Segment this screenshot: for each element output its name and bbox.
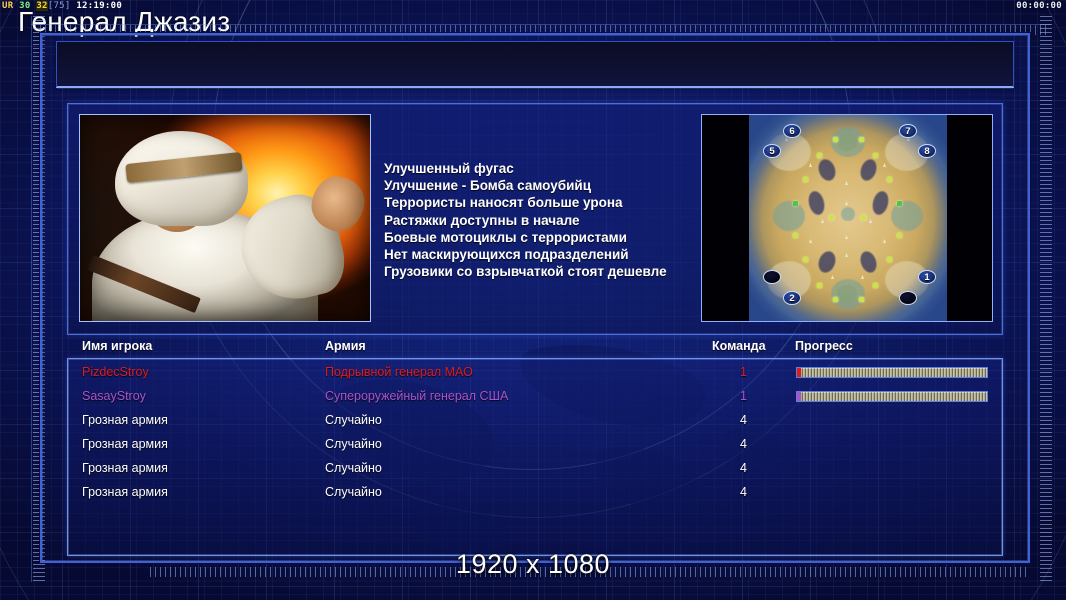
general-bonus-list: Улучшенный фугас Улучшение - Бомба самоу… <box>384 160 714 280</box>
osd-tag: UR <box>2 1 13 11</box>
player-table-header: Имя игрока Армия Команда Прогресс <box>67 339 1003 358</box>
cell-player-name: SasayStroy <box>82 389 146 403</box>
minimap-start-position-8[interactable]: 8 <box>918 144 936 158</box>
minimap-start-position-6[interactable]: 6 <box>783 124 801 138</box>
osd-num1: 30 <box>19 1 30 11</box>
bonus-line-2: Улучшение - Бомба самоубийц <box>384 177 714 194</box>
minimap-start-position-empty-7[interactable] <box>899 291 917 305</box>
bonus-line-4: Растяжки доступны в начале <box>384 212 714 229</box>
title-bar-glow <box>57 86 1013 89</box>
progress-bar-fill <box>797 392 987 401</box>
column-header-progress: Прогресс <box>795 339 853 353</box>
portrait-vignette <box>80 115 370 321</box>
cell-army: Случайно <box>325 413 382 427</box>
cell-army: Подрывной генерал МАО <box>325 365 473 379</box>
cell-army: Случайно <box>325 437 382 451</box>
cell-team: 1 <box>740 389 747 403</box>
column-header-team: Команда <box>712 339 766 353</box>
minimap-start-position-1[interactable]: 1 <box>918 270 936 284</box>
cell-player-name: Грозная армия <box>82 437 168 451</box>
minimap[interactable]: 675812 <box>749 115 947 322</box>
table-row[interactable]: Грозная армияСлучайно4 <box>68 434 1002 458</box>
cell-player-name: Грозная армия <box>82 461 168 475</box>
general-info-panel: Улучшенный фугас Улучшение - Бомба самоу… <box>67 103 1003 335</box>
cell-team: 1 <box>740 365 747 379</box>
osd-overlay: UR 30 32[75] 12:19:00 00:00:00 <box>0 0 1066 14</box>
cell-army: Случайно <box>325 461 382 475</box>
minimap-start-position-2[interactable]: 2 <box>783 291 801 305</box>
bonus-line-6: Нет маскирующихся подразделений <box>384 246 714 263</box>
general-portrait <box>79 114 371 322</box>
table-row[interactable]: PizdecStroyПодрывной генерал МАО1 <box>68 362 1002 386</box>
osd-num3: [75] <box>48 1 71 11</box>
bonus-line-5: Боевые мотоциклы с террористами <box>384 229 714 246</box>
table-row[interactable]: Грозная армияСлучайно4 <box>68 458 1002 482</box>
osd-num2: 32 <box>36 1 47 11</box>
cell-army: Супероружейный генерал США <box>325 389 508 403</box>
minimap-start-position-empty-4[interactable] <box>763 270 781 284</box>
table-row[interactable]: SasayStroyСупероружейный генерал США1 <box>68 386 1002 410</box>
progress-bar <box>796 391 988 402</box>
column-header-player-name: Имя игрока <box>82 339 152 353</box>
osd-clock: 12:19:00 <box>76 1 122 11</box>
progress-bar-player-cap <box>797 368 801 377</box>
bonus-line-3: Террористы наносят больше урона <box>384 194 714 211</box>
minimap-start-position-7[interactable]: 7 <box>899 124 917 138</box>
cell-player-name: Грозная армия <box>82 413 168 427</box>
resolution-overlay: 1920 x 1080 <box>0 549 1066 580</box>
cell-team: 4 <box>740 437 747 451</box>
minimap-frame: 675812 <box>701 114 993 322</box>
player-table: PizdecStroyПодрывной генерал МАО1SasaySt… <box>67 358 1003 556</box>
progress-bar <box>796 367 988 378</box>
progress-bar-player-cap <box>797 392 801 401</box>
title-bar <box>56 41 1014 87</box>
ruler-vertical-right <box>1040 16 1052 582</box>
table-row[interactable]: Грозная армияСлучайно4 <box>68 482 1002 506</box>
table-row[interactable]: Грозная армияСлучайно4 <box>68 410 1002 434</box>
bonus-line-7: Грузовики со взрывчаткой стоят дешевле <box>384 263 714 280</box>
column-header-army: Армия <box>325 339 366 353</box>
player-table-rows: PizdecStroyПодрывной генерал МАО1SasaySt… <box>68 362 1002 506</box>
cell-army: Случайно <box>325 485 382 499</box>
osd-timer: 00:00:00 <box>1016 1 1062 11</box>
minimap-start-position-5[interactable]: 5 <box>763 144 781 158</box>
cell-player-name: PizdecStroy <box>82 365 149 379</box>
cell-player-name: Грозная армия <box>82 485 168 499</box>
osd-left-status: UR 30 32[75] 12:19:00 <box>2 1 122 11</box>
cell-team: 4 <box>740 485 747 499</box>
progress-bar-fill <box>797 368 987 377</box>
bonus-line-1: Улучшенный фугас <box>384 160 714 177</box>
edge-line-left <box>31 16 32 582</box>
cell-team: 4 <box>740 461 747 475</box>
cell-team: 4 <box>740 413 747 427</box>
